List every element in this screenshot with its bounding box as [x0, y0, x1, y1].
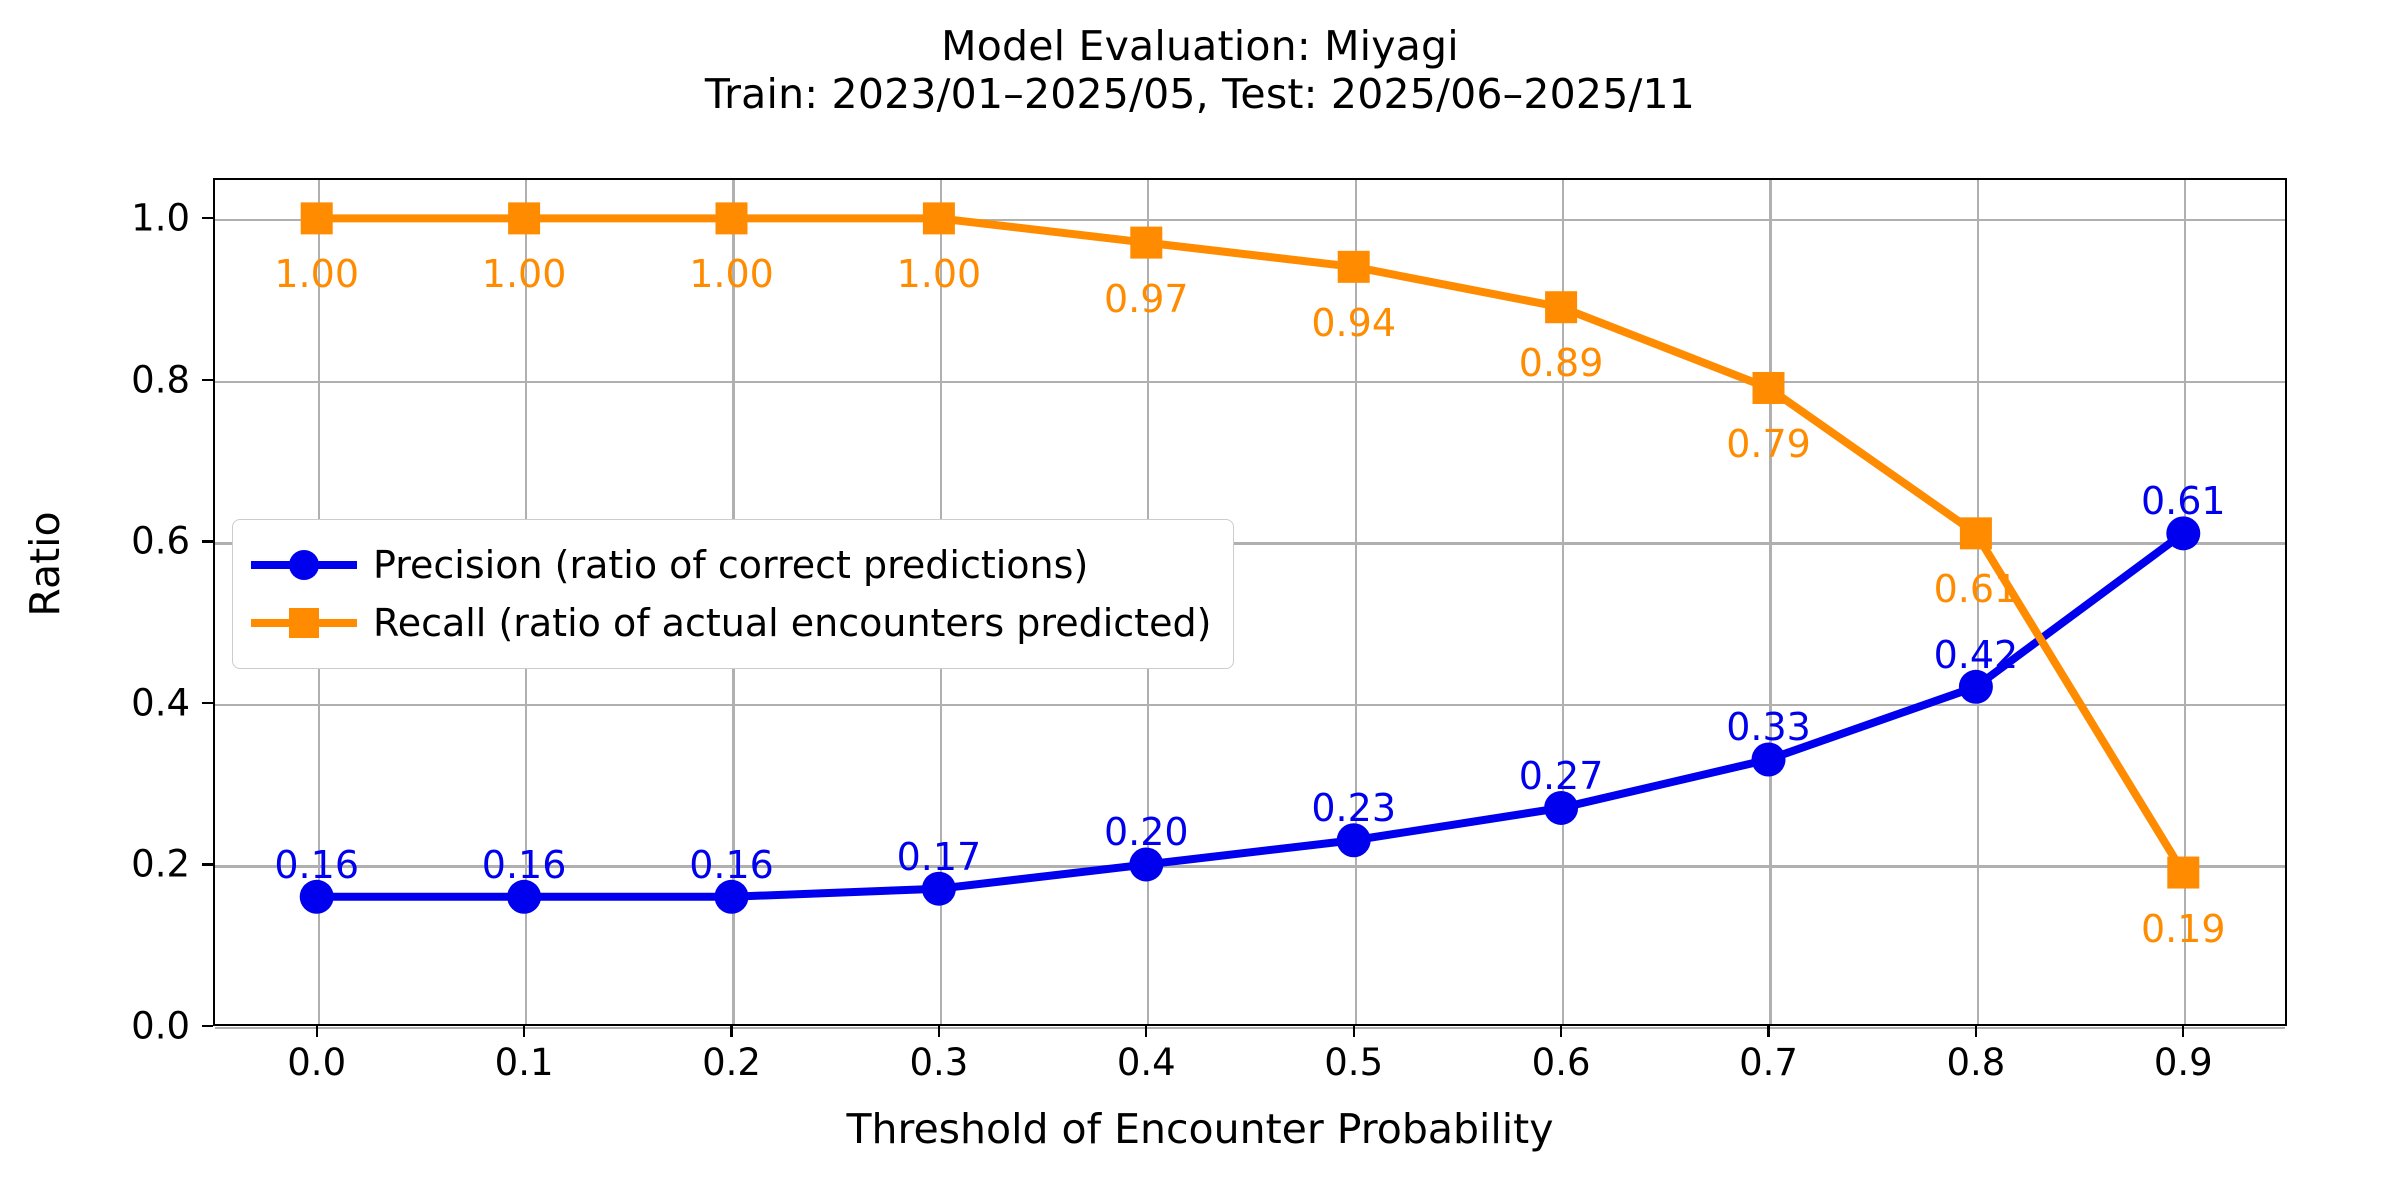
x-tick-mark	[1353, 1026, 1355, 1037]
x-tick-label: 0.1	[495, 1041, 554, 1084]
x-tick-label: 0.3	[909, 1041, 968, 1084]
x-tick-mark	[730, 1026, 732, 1037]
data-point-marker[interactable]	[2167, 857, 2199, 889]
data-point-label: 0.17	[897, 835, 982, 879]
data-point-marker[interactable]	[1960, 517, 1992, 549]
x-tick-mark	[1975, 1026, 1977, 1037]
data-point-label: 0.23	[1311, 786, 1396, 830]
x-tick-label: 0.5	[1324, 1041, 1383, 1084]
data-point-marker[interactable]	[1753, 372, 1785, 404]
x-tick-label: 0.7	[1739, 1041, 1798, 1084]
data-point-marker[interactable]	[508, 202, 540, 234]
legend-item-recall[interactable]: Recall (ratio of actual encounters predi…	[251, 594, 1211, 652]
data-point-marker[interactable]	[1338, 251, 1370, 283]
data-point-label: 0.42	[1934, 633, 2019, 677]
x-tick-mark	[316, 1026, 318, 1037]
x-tick-label: 0.6	[1532, 1041, 1591, 1084]
chart-title: Model Evaluation: Miyagi Train: 2023/01–…	[0, 22, 2400, 119]
data-point-label: 0.94	[1311, 301, 1396, 345]
y-tick-label: 0.6	[131, 520, 190, 563]
data-point-label: 0.33	[1726, 705, 1811, 749]
x-tick-label: 0.2	[702, 1041, 761, 1084]
x-tick-mark	[1767, 1026, 1769, 1037]
data-point-label: 0.16	[274, 843, 359, 887]
data-point-label: 1.00	[482, 252, 567, 296]
x-tick-mark	[1560, 1026, 1562, 1037]
data-point-label: 0.79	[1726, 422, 1811, 466]
x-tick-label: 0.9	[2154, 1041, 2213, 1084]
data-point-label: 0.16	[482, 843, 567, 887]
data-point-label: 0.61	[1934, 567, 2019, 611]
legend-label-precision: Precision (ratio of correct predictions)	[373, 543, 1088, 587]
data-point-label: 1.00	[274, 252, 359, 296]
x-tick-label: 0.8	[1946, 1041, 2005, 1084]
chart-title-line-1: Model Evaluation: Miyagi	[0, 22, 2400, 70]
y-tick-mark	[202, 540, 213, 542]
circle-marker-icon	[289, 550, 319, 580]
data-point-label: 0.27	[1519, 754, 1604, 798]
legend-swatch-recall	[251, 600, 357, 646]
x-tick-label: 0.4	[1117, 1041, 1176, 1084]
x-tick-mark	[2182, 1026, 2184, 1037]
y-tick-label: 0.4	[131, 681, 190, 724]
data-point-label: 0.89	[1519, 341, 1604, 385]
chart-title-line-2: Train: 2023/01–2025/05, Test: 2025/06–20…	[0, 70, 2400, 118]
y-tick-mark	[202, 217, 213, 219]
y-tick-label: 0.0	[131, 1005, 190, 1048]
data-point-label: 0.20	[1104, 810, 1189, 854]
data-point-marker[interactable]	[1545, 291, 1577, 323]
x-tick-label: 0.0	[287, 1041, 346, 1084]
data-point-marker[interactable]	[923, 202, 955, 234]
data-point-label: 0.61	[2141, 479, 2226, 523]
data-point-label: 1.00	[897, 252, 982, 296]
square-marker-icon	[289, 608, 319, 638]
y-tick-mark	[202, 1025, 213, 1027]
data-point-marker[interactable]	[301, 202, 333, 234]
y-tick-label: 0.2	[131, 843, 190, 886]
chart-figure: Model Evaluation: Miyagi Train: 2023/01–…	[0, 0, 2400, 1200]
legend-swatch-precision	[251, 542, 357, 588]
data-point-label: 0.97	[1104, 277, 1189, 321]
y-axis-label: Ratio	[21, 264, 69, 864]
data-point-label: 0.16	[689, 843, 774, 887]
y-tick-mark	[202, 379, 213, 381]
data-point-label: 1.00	[689, 252, 774, 296]
legend-label-recall: Recall (ratio of actual encounters predi…	[373, 601, 1211, 645]
data-point-marker[interactable]	[1130, 227, 1162, 259]
x-axis-label: Threshold of Encounter Probability	[0, 1105, 2400, 1153]
data-point-label: 0.19	[2141, 907, 2226, 951]
y-tick-mark	[202, 863, 213, 865]
y-tick-label: 1.0	[131, 197, 190, 240]
legend-item-precision[interactable]: Precision (ratio of correct predictions)	[251, 536, 1211, 594]
x-tick-mark	[1145, 1026, 1147, 1037]
y-tick-label: 0.8	[131, 358, 190, 401]
x-tick-mark	[938, 1026, 940, 1037]
data-point-marker[interactable]	[716, 202, 748, 234]
y-tick-mark	[202, 702, 213, 704]
chart-legend[interactable]: Precision (ratio of correct predictions)…	[232, 519, 1234, 669]
x-tick-mark	[523, 1026, 525, 1037]
